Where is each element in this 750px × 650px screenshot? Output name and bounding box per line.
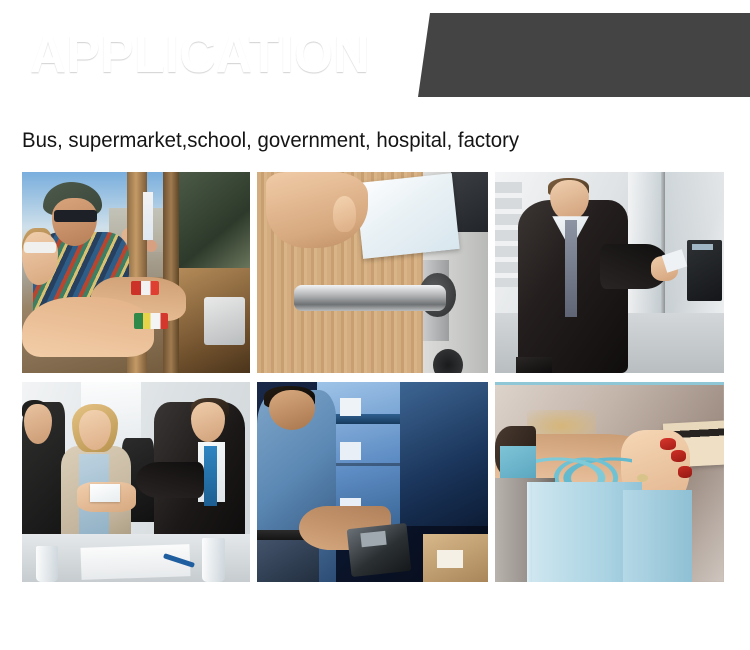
application-list-subtitle: Bus, supermarket,school, government, hos… (22, 126, 519, 156)
photo-warehouse-scanner (257, 382, 488, 582)
shopping-bag (623, 490, 692, 582)
photo-card-door-lock (257, 172, 488, 373)
page-title: APPLICATION (30, 20, 370, 90)
application-photo-gallery (22, 172, 724, 582)
rfid-wristband (131, 281, 158, 295)
rfid-wristband (134, 313, 168, 329)
banner-gray-shape (418, 13, 750, 97)
page-banner: APPLICATION (0, 0, 750, 115)
photo-shopping-bags-card (495, 382, 724, 582)
photo-business-meeting-card (22, 382, 250, 582)
door-handle (294, 285, 446, 311)
photo-businessman-access-control (495, 172, 724, 373)
business-card (90, 484, 120, 502)
rfid-card (355, 173, 459, 259)
photo-festival-wristbands (22, 172, 250, 373)
